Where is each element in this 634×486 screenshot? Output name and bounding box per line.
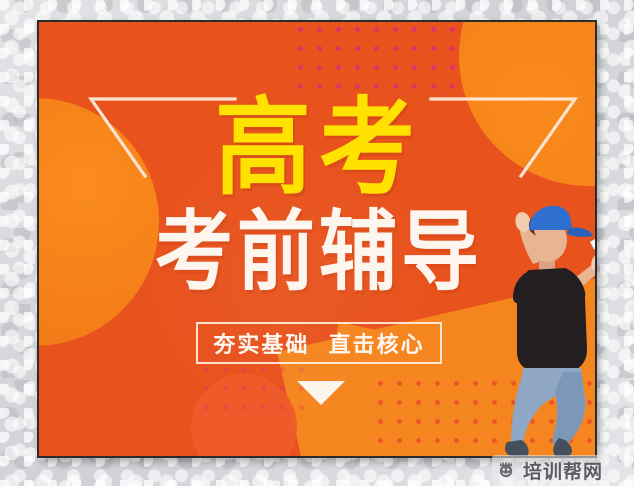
subtitle-box: 夯实基础 直击核心 bbox=[196, 322, 442, 364]
watermark: 培训帮网 bbox=[492, 455, 609, 486]
watermark-text: 培训帮网 bbox=[523, 457, 603, 484]
page-canvas: 高考 考前辅导 夯实基础 直击核心 bbox=[0, 0, 634, 486]
jumping-student-illustration bbox=[469, 192, 597, 458]
promo-banner: 高考 考前辅导 夯实基础 直击核心 bbox=[37, 20, 597, 458]
headline-primary-text: 高考 bbox=[215, 97, 423, 198]
chevron-down-icon bbox=[294, 378, 348, 417]
subtitle-text: 夯实基础 直击核心 bbox=[213, 327, 424, 359]
headline-primary: 高考 bbox=[39, 102, 597, 194]
headline-secondary-text: 考前辅导 bbox=[155, 209, 483, 296]
dot-grid-top-right bbox=[291, 20, 461, 90]
smiling-face-icon bbox=[496, 457, 518, 484]
